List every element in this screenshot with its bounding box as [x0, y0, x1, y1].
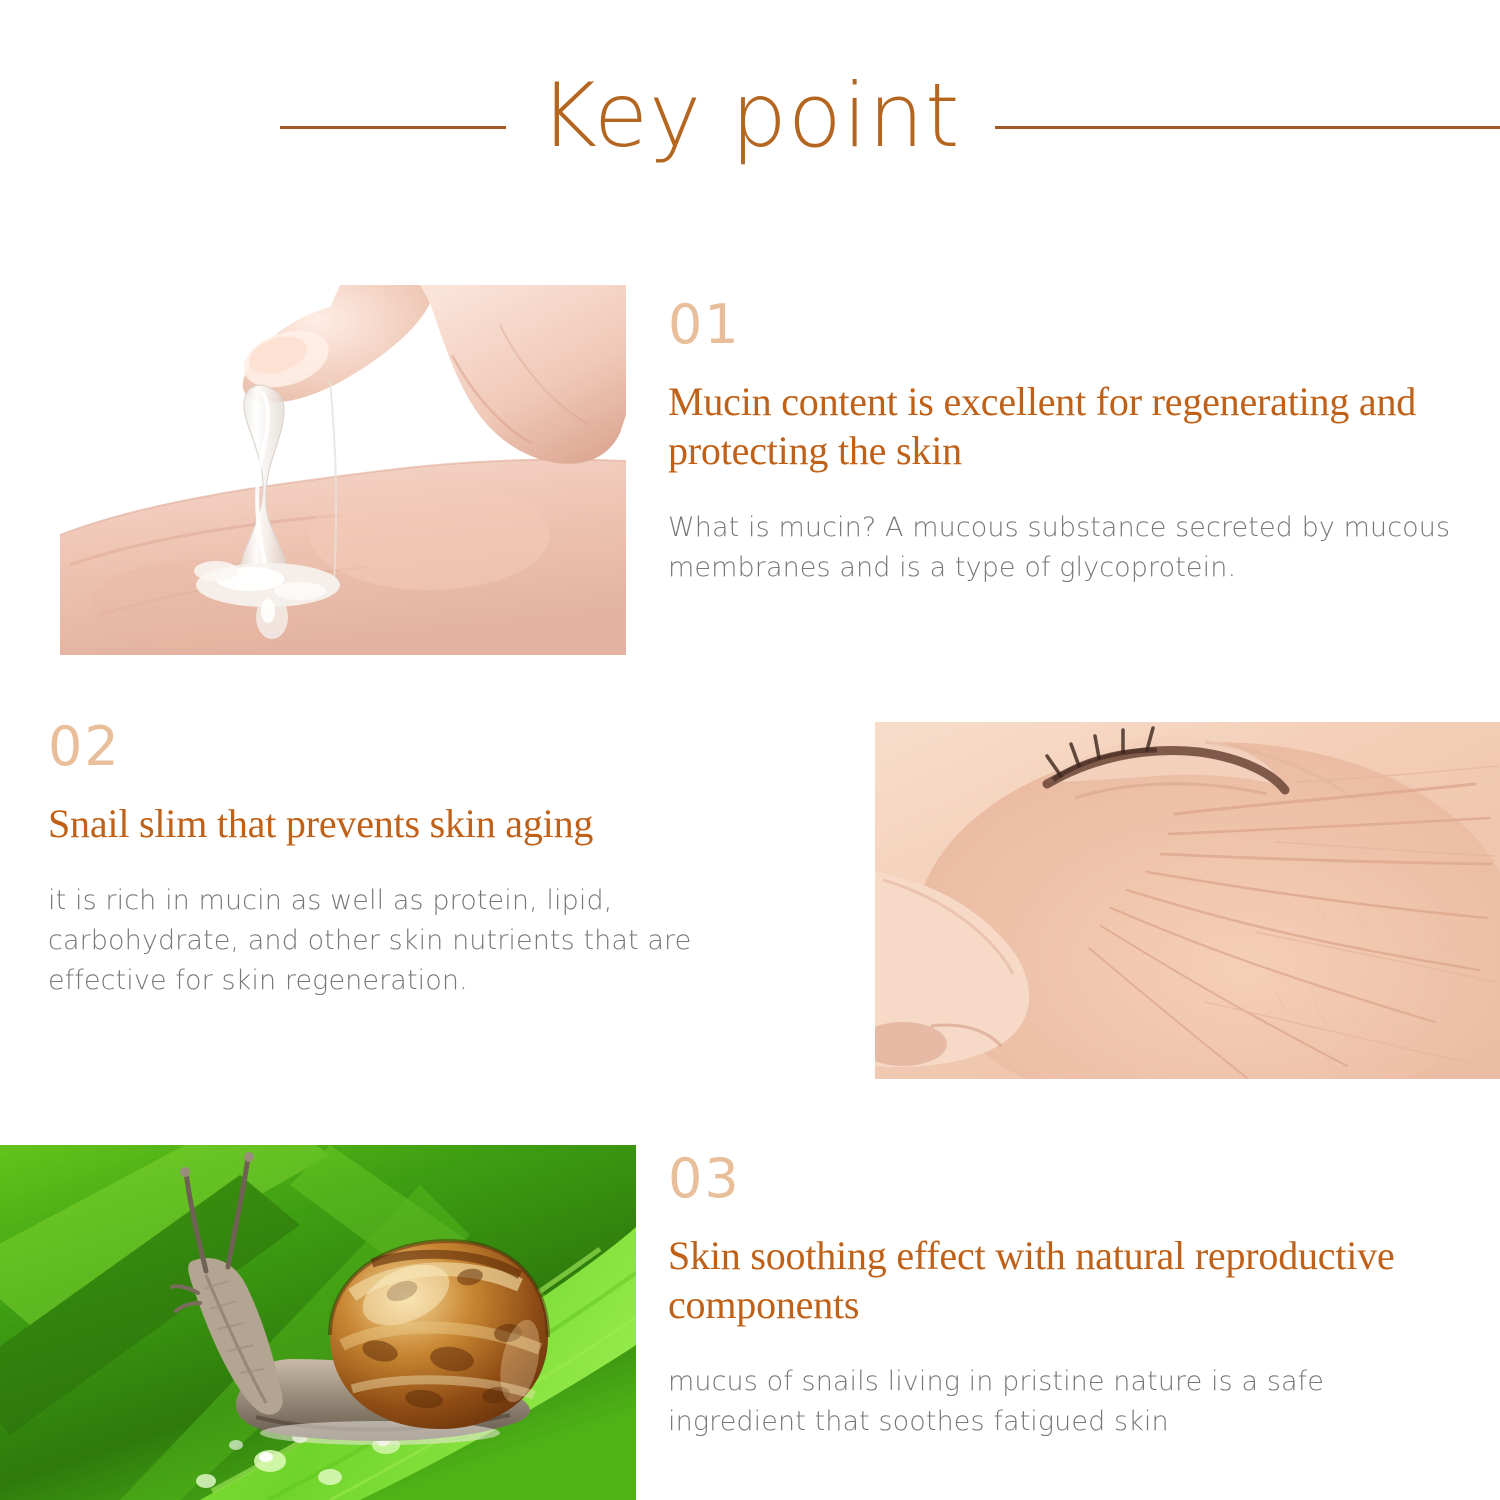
page-header: Key point	[0, 0, 1500, 250]
hand-gel-photo	[0, 285, 626, 655]
section-03-text: 03 Skin soothing effect with natural rep…	[668, 1152, 1468, 1442]
section-01-heading: Mucin content is excellent for regenerat…	[668, 378, 1480, 476]
section-02-body: it is rich in mucin as well as protein, …	[48, 881, 728, 1001]
section-01-body: What is mucin? A mucous substance secret…	[668, 508, 1480, 588]
hand-gel-illustration	[0, 285, 626, 655]
wrinkled-eye-illustration	[875, 722, 1500, 1079]
section-01-text: 01 Mucin content is excellent for regene…	[668, 298, 1480, 588]
section-02-heading: Snail slim that prevents skin aging	[48, 800, 728, 849]
section-02-text: 02 Snail slim that prevents skin aging i…	[48, 720, 728, 1001]
title-rule-right	[995, 126, 1500, 129]
snail-leaf-photo	[0, 1145, 636, 1500]
section-01-number: 01	[668, 298, 1480, 352]
page-title: Key point	[0, 68, 1500, 165]
section-02-number: 02	[48, 720, 728, 774]
snail-shell-shape	[330, 1241, 548, 1429]
snail-leaf-illustration	[0, 1145, 636, 1500]
section-03-body: mucus of snails living in pristine natur…	[668, 1362, 1468, 1442]
wrinkled-eye-photo	[875, 722, 1500, 1079]
section-03-number: 03	[668, 1152, 1468, 1206]
section-03-heading: Skin soothing effect with natural reprod…	[668, 1232, 1468, 1330]
